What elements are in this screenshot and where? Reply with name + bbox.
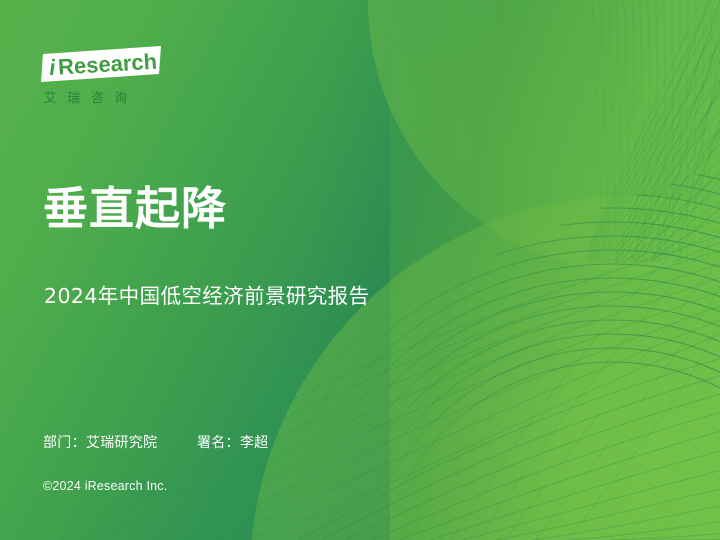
page-title: 垂直起降: [43, 183, 227, 235]
page-subtitle: 2024年中国低空经济前景研究报告: [44, 279, 369, 309]
footer-copyright: ©2024 iResearch Inc.: [43, 479, 167, 493]
footer-department: 部门：艾瑞研究院: [43, 435, 157, 451]
footer-author: 署名：李超: [197, 435, 269, 451]
report-cover-slide: i Research 艾瑞咨询 垂直起降 2024年中国低空经济前景研究报告 部…: [0, 0, 720, 540]
iresearch-logo: i Research 艾瑞咨询: [41, 46, 191, 106]
logo-chinese-label: 艾瑞咨询: [44, 87, 191, 106]
footer-credits: 部门：艾瑞研究院 署名：李超: [43, 432, 268, 452]
logo-wordmark-icon: i Research: [41, 46, 165, 82]
